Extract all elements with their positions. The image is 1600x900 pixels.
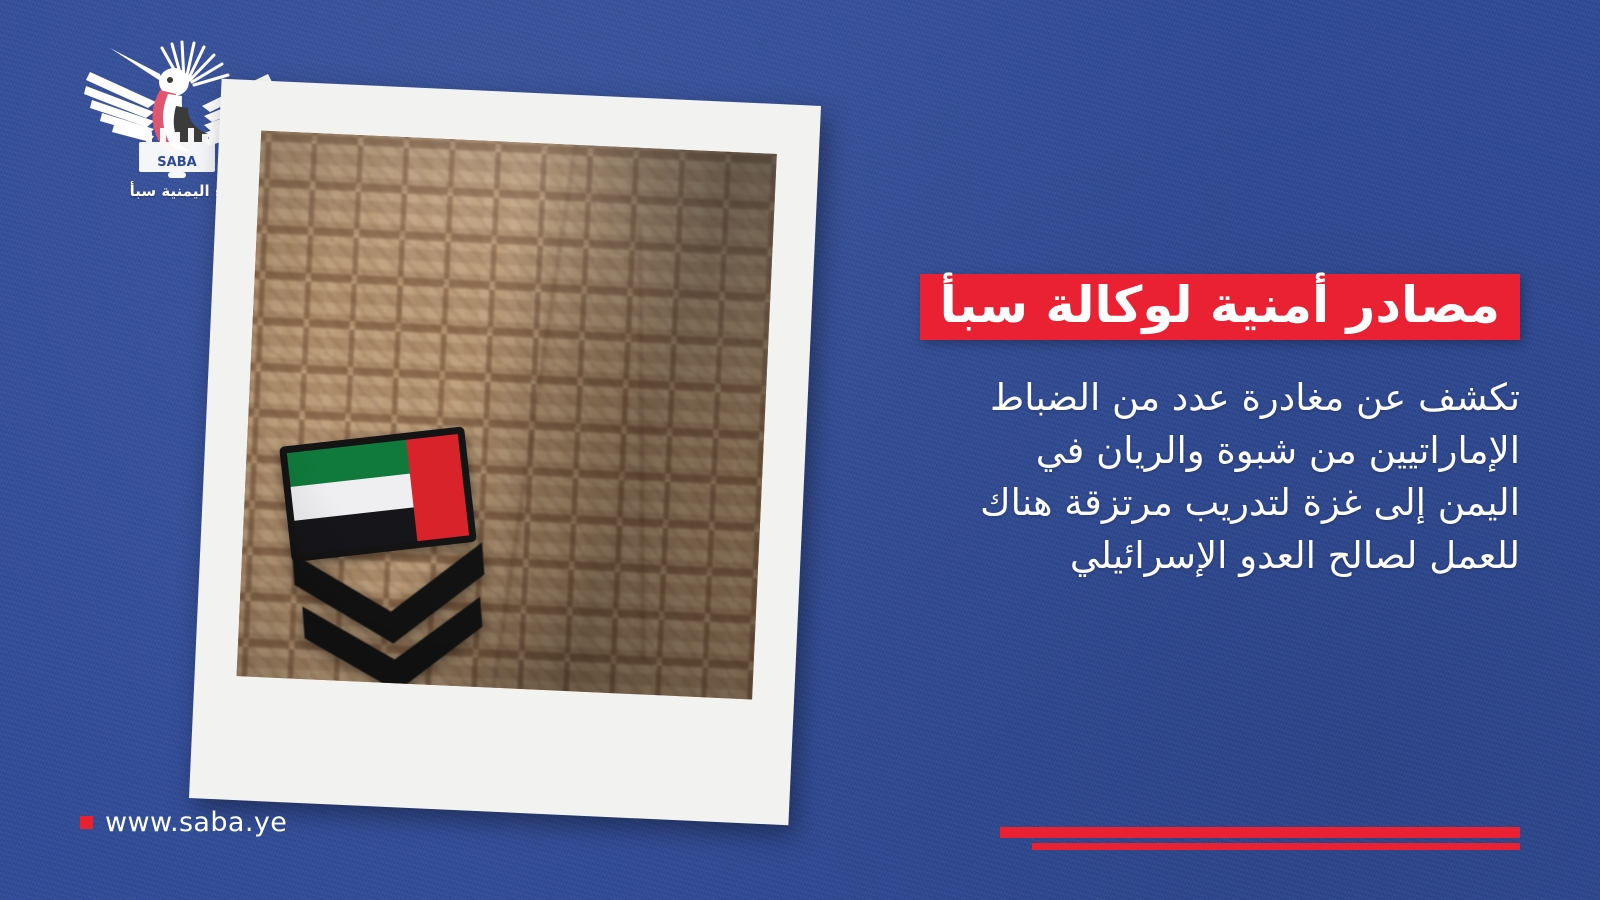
headline-text: مصادر أمنية لوكالة سبأ	[940, 280, 1500, 330]
site-url-block[interactable]: www.saba.ye	[80, 807, 287, 838]
logo-wordmark: SABA	[157, 155, 196, 170]
decorative-red-rules	[1000, 827, 1520, 850]
corporal-chevrons-icon	[286, 529, 508, 699]
uniform-photo	[237, 131, 777, 700]
body-line-1: تكشف عن مغادرة عدد من الضباط	[820, 372, 1520, 425]
body-line-4: للعمل لصالح العدو الإسرائيلي	[820, 530, 1520, 583]
headline-banner: مصادر أمنية لوكالة سبأ	[920, 274, 1520, 340]
body-paragraph: تكشف عن مغادرة عدد من الضباط الإماراتيين…	[820, 372, 1520, 582]
polaroid-frame	[189, 79, 821, 825]
red-square-bullet-icon	[80, 816, 93, 829]
rule-thin	[1032, 843, 1520, 850]
site-url-text[interactable]: www.saba.ye	[105, 807, 287, 838]
body-line-2: الإماراتيين من شبوة والريان في	[820, 425, 1520, 478]
rule-thick	[1000, 827, 1520, 838]
flag-hoist-red	[406, 434, 469, 541]
news-graphic-canvas: SABA وكالة الأنباء اليمنية سبأ	[0, 0, 1600, 900]
body-line-3: اليمن إلى غزة لتدريب مرتزقة هناك	[820, 477, 1520, 530]
